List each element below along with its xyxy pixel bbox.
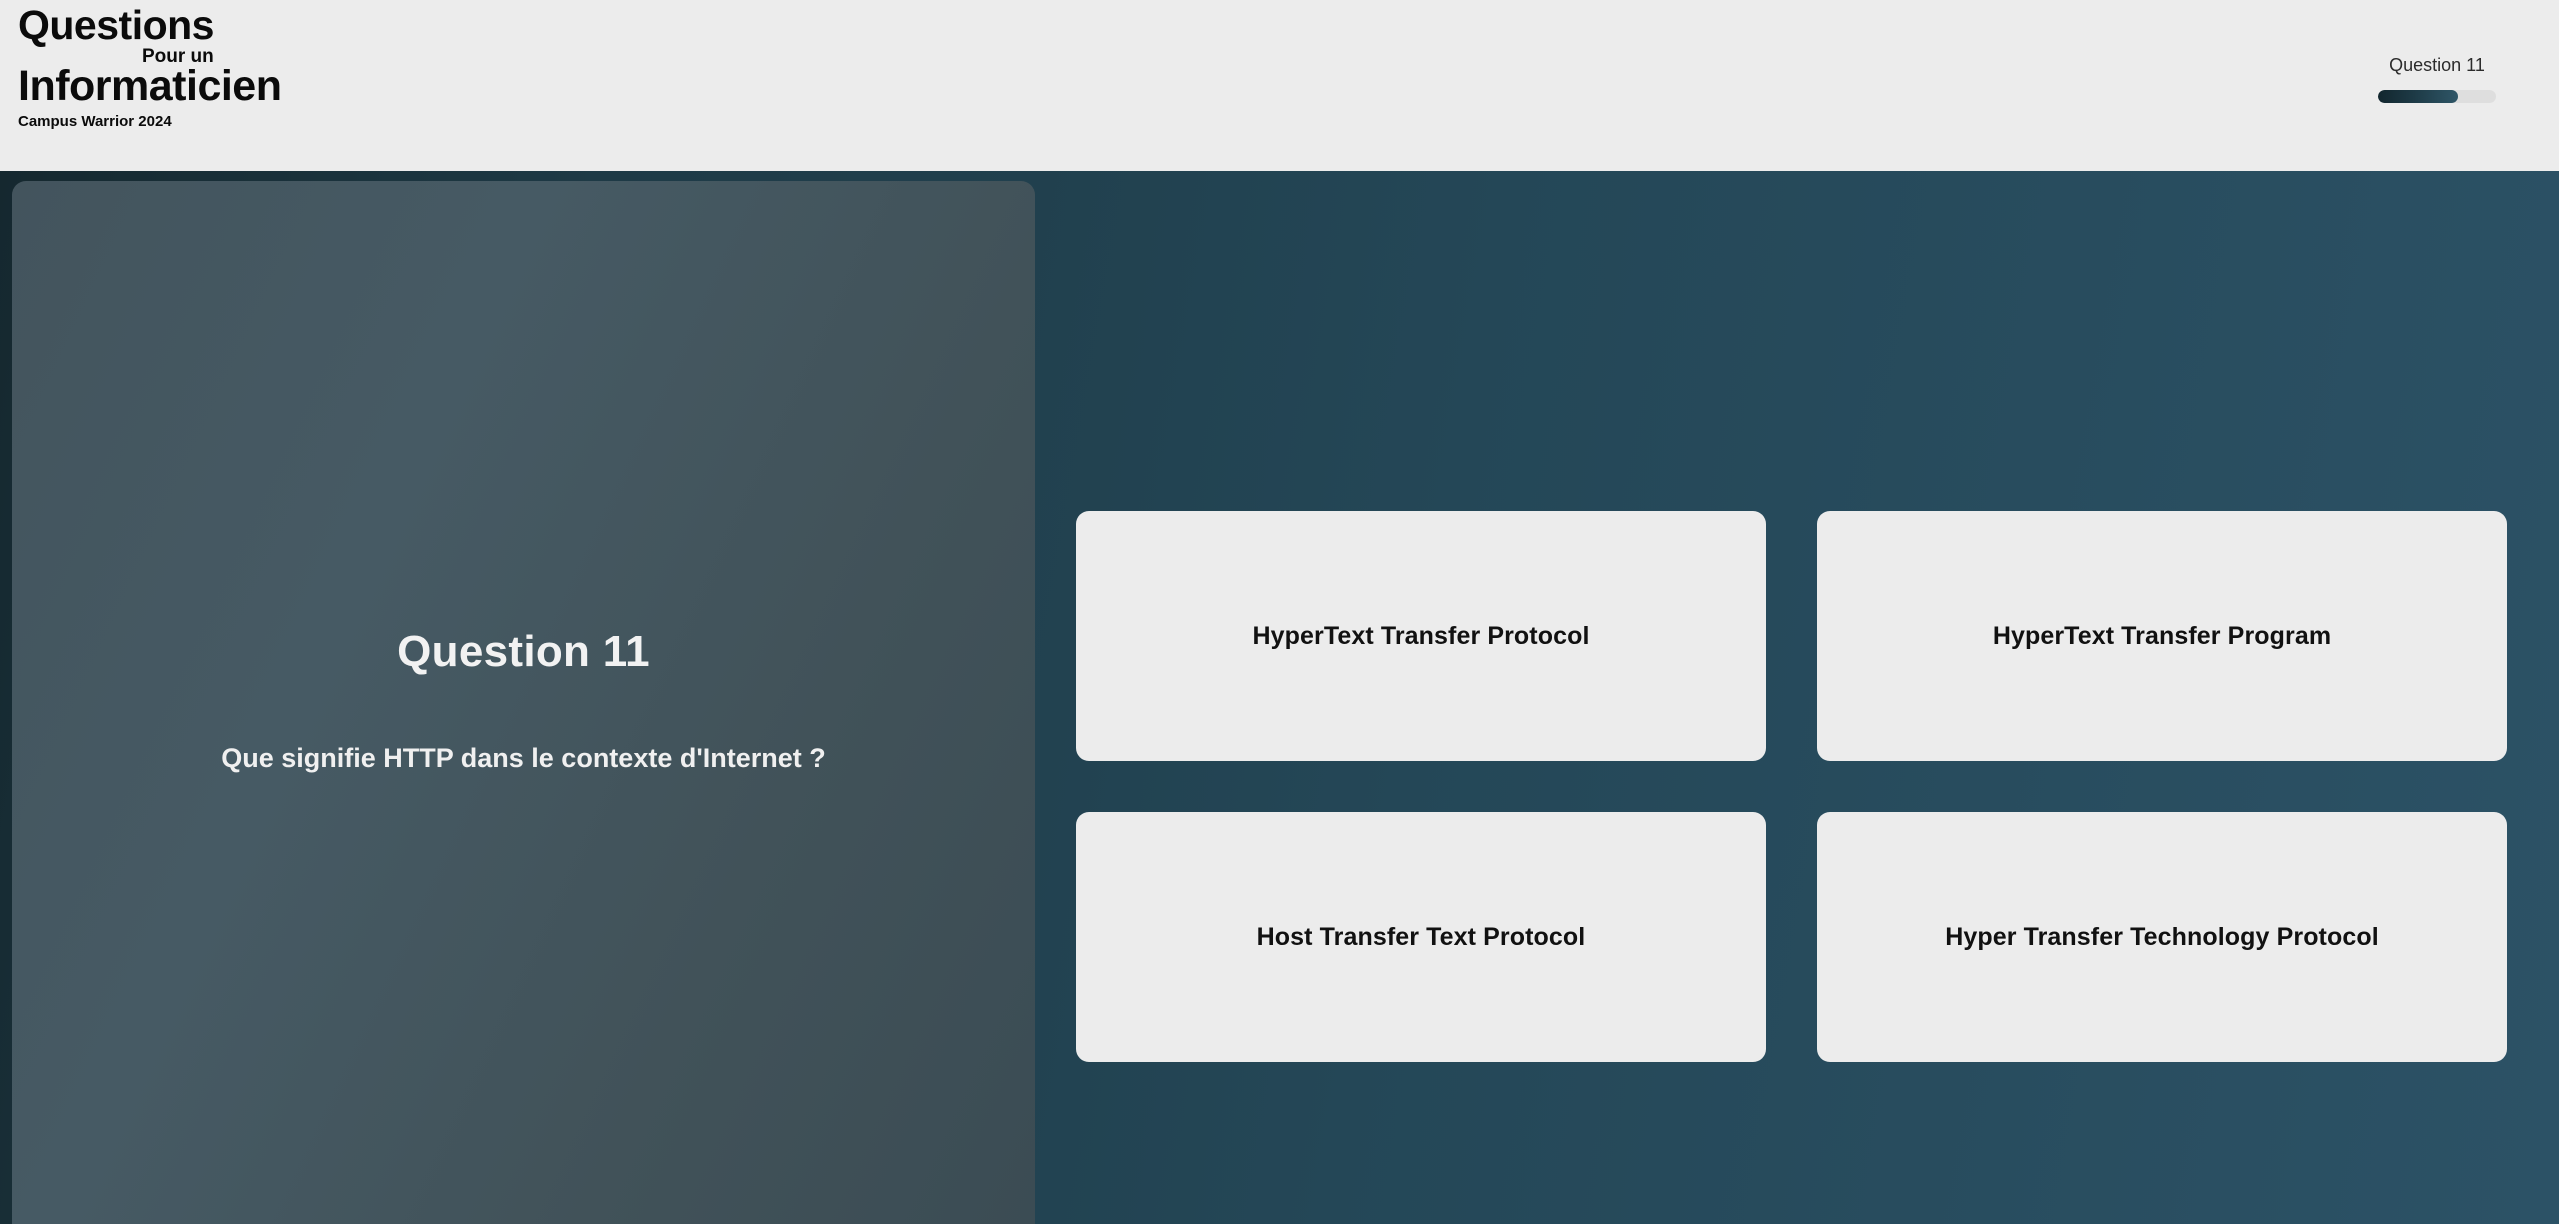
answer-option-2[interactable]: HyperText Transfer Program — [1817, 511, 2507, 761]
brand-title-informaticien: Informaticien — [18, 66, 398, 107]
answer-option-4[interactable]: Hyper Transfer Technology Protocol — [1817, 812, 2507, 1062]
answers-grid: HyperText Transfer Protocol HyperText Tr… — [1076, 511, 2507, 1062]
progress-bar-track — [2378, 90, 2496, 103]
answer-option-4-label: Hyper Transfer Technology Protocol — [1945, 921, 2379, 954]
quiz-progress: Question 11 — [2378, 56, 2496, 103]
answer-option-2-label: HyperText Transfer Program — [1993, 620, 2331, 653]
progress-bar-fill — [2378, 90, 2458, 103]
quiz-screen: Questions Pour un Informaticien Campus W… — [0, 0, 2559, 1224]
answer-option-1[interactable]: HyperText Transfer Protocol — [1076, 511, 1766, 761]
brand-logo: Questions Pour un Informaticien Campus W… — [18, 6, 398, 131]
answer-option-3-label: Host Transfer Text Protocol — [1257, 921, 1586, 954]
brand-title-questions: Questions — [18, 6, 398, 45]
progress-question-label: Question 11 — [2378, 56, 2496, 74]
brand-edition-label: Campus Warrior 2024 — [18, 113, 398, 131]
quiz-content: Question 11 Que signifie HTTP dans le co… — [0, 171, 2559, 1224]
question-number: Question 11 — [397, 628, 650, 676]
answer-option-1-label: HyperText Transfer Protocol — [1252, 620, 1589, 653]
question-panel: Question 11 Que signifie HTTP dans le co… — [12, 181, 1035, 1224]
app-header: Questions Pour un Informaticien Campus W… — [0, 0, 2559, 171]
answer-option-3[interactable]: Host Transfer Text Protocol — [1076, 812, 1766, 1062]
question-text: Que signifie HTTP dans le contexte d'Int… — [221, 740, 826, 776]
